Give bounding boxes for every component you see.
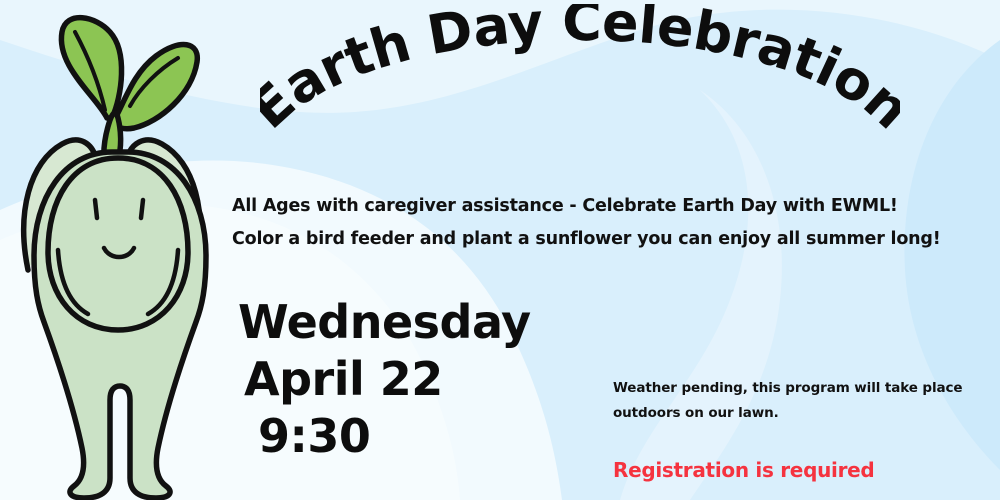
- page-title: Earth Day Celebration: [260, 4, 900, 144]
- seedling-mascot: [0, 0, 240, 500]
- page-title-text: Earth Day Celebration: [260, 4, 900, 141]
- event-time: 9:30: [234, 408, 544, 465]
- event-day: Wednesday: [234, 294, 544, 351]
- mascot-face-oval: [48, 158, 188, 330]
- svg-text:Earth Day Celebration: Earth Day Celebration: [260, 4, 900, 141]
- body-line-1: All Ages with caregiver assistance - Cel…: [232, 196, 898, 216]
- event-date: April 22: [234, 351, 544, 408]
- weather-note: Weather pending, this program will take …: [613, 376, 963, 426]
- event-date-block: Wednesday April 22 9:30: [234, 294, 544, 465]
- earth-day-celebration-poster: Earth Day Celebration All Ages with care…: [0, 0, 1000, 500]
- right-leaf-icon: [113, 45, 197, 129]
- body-line-2: Color a bird feeder and plant a sunflowe…: [232, 229, 941, 249]
- right-eye: [141, 200, 143, 218]
- left-eye: [95, 200, 97, 218]
- weather-note-line-1: Weather pending, this program will take …: [613, 376, 963, 401]
- weather-note-line-2: outdoors on our lawn.: [613, 401, 963, 426]
- registration-note: Registration is required: [613, 458, 874, 482]
